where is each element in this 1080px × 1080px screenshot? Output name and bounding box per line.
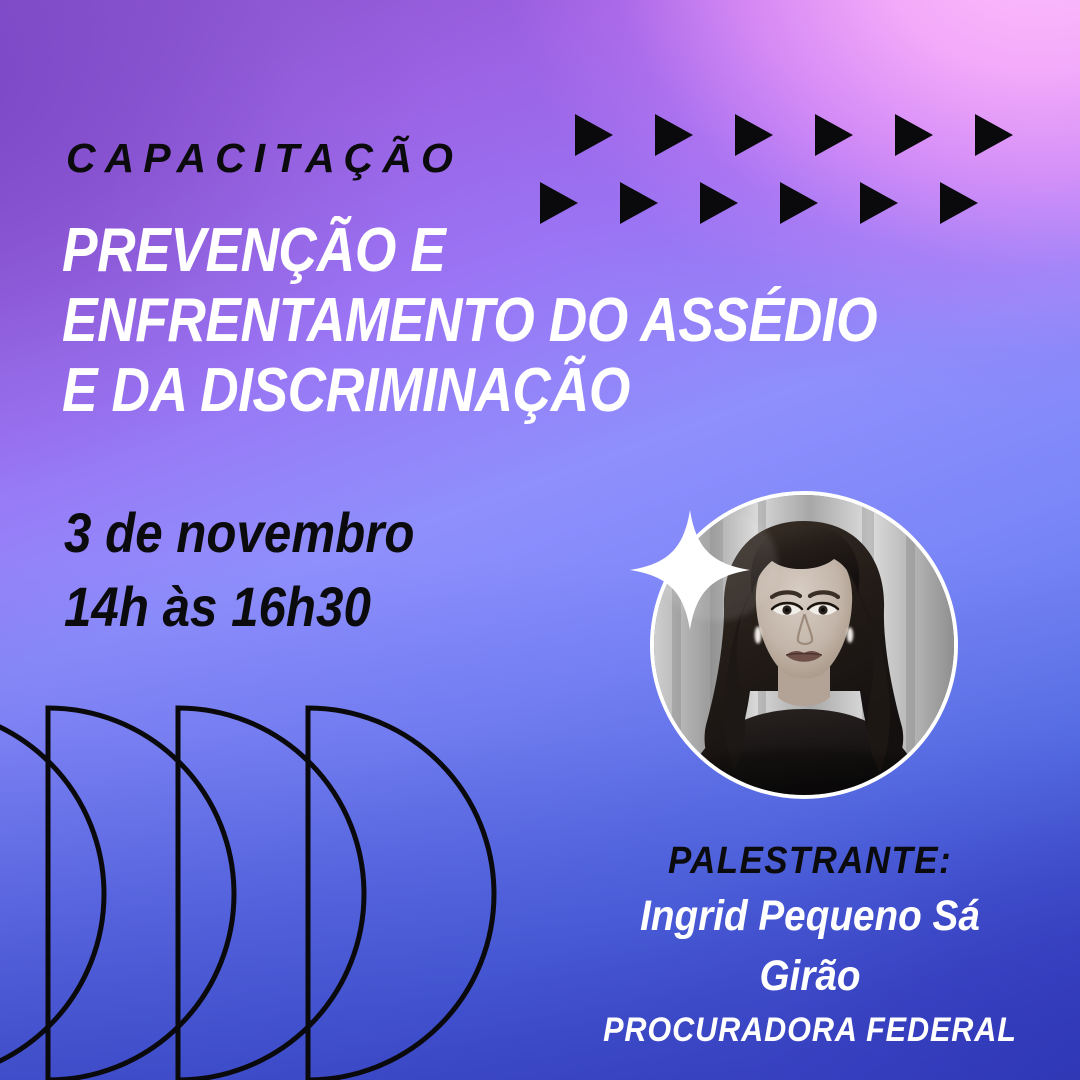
half-circle-outline-icon — [308, 708, 494, 1080]
speaker-role-label: PALESTRANTE: — [580, 836, 1040, 886]
schedule-block: 3 de novembro 14h às 16h30 — [64, 496, 415, 644]
arrow-triangle-decoration — [540, 112, 1040, 232]
triangle-right-icon-row-top — [575, 114, 1013, 156]
half-circle-outline-icon — [0, 708, 104, 1080]
event-poster: CAPACITAÇÃO PREVENÇÃO E ENFRENTAMENTO DO… — [0, 0, 1080, 1080]
half-circle-decoration — [0, 700, 570, 1080]
half-circle-outline-icon — [178, 708, 364, 1080]
half-circle-outline-icon — [48, 708, 234, 1080]
page-title: PREVENÇÃO E ENFRENTAMENTO DO ASSÉDIO E D… — [62, 216, 784, 426]
eyebrow-label: CAPACITAÇÃO — [66, 138, 462, 179]
speaker-name: Ingrid Pequeno Sá Girão — [585, 886, 1035, 1006]
headline-line-1: PREVENÇÃO E — [62, 216, 784, 286]
headline-line-3: E DA DISCRIMINAÇÃO — [62, 356, 784, 426]
speaker-title: PROCURADORA FEDERAL — [585, 1006, 1035, 1054]
headline-line-2: ENFRENTAMENTO DO ASSÉDIO — [62, 286, 784, 356]
event-time: 14h às 16h30 — [64, 570, 415, 644]
event-date: 3 de novembro — [64, 496, 415, 570]
speaker-credits: PALESTRANTE: Ingrid Pequeno Sá Girão PRO… — [560, 836, 1060, 1054]
four-point-sparkle-icon — [628, 508, 752, 632]
